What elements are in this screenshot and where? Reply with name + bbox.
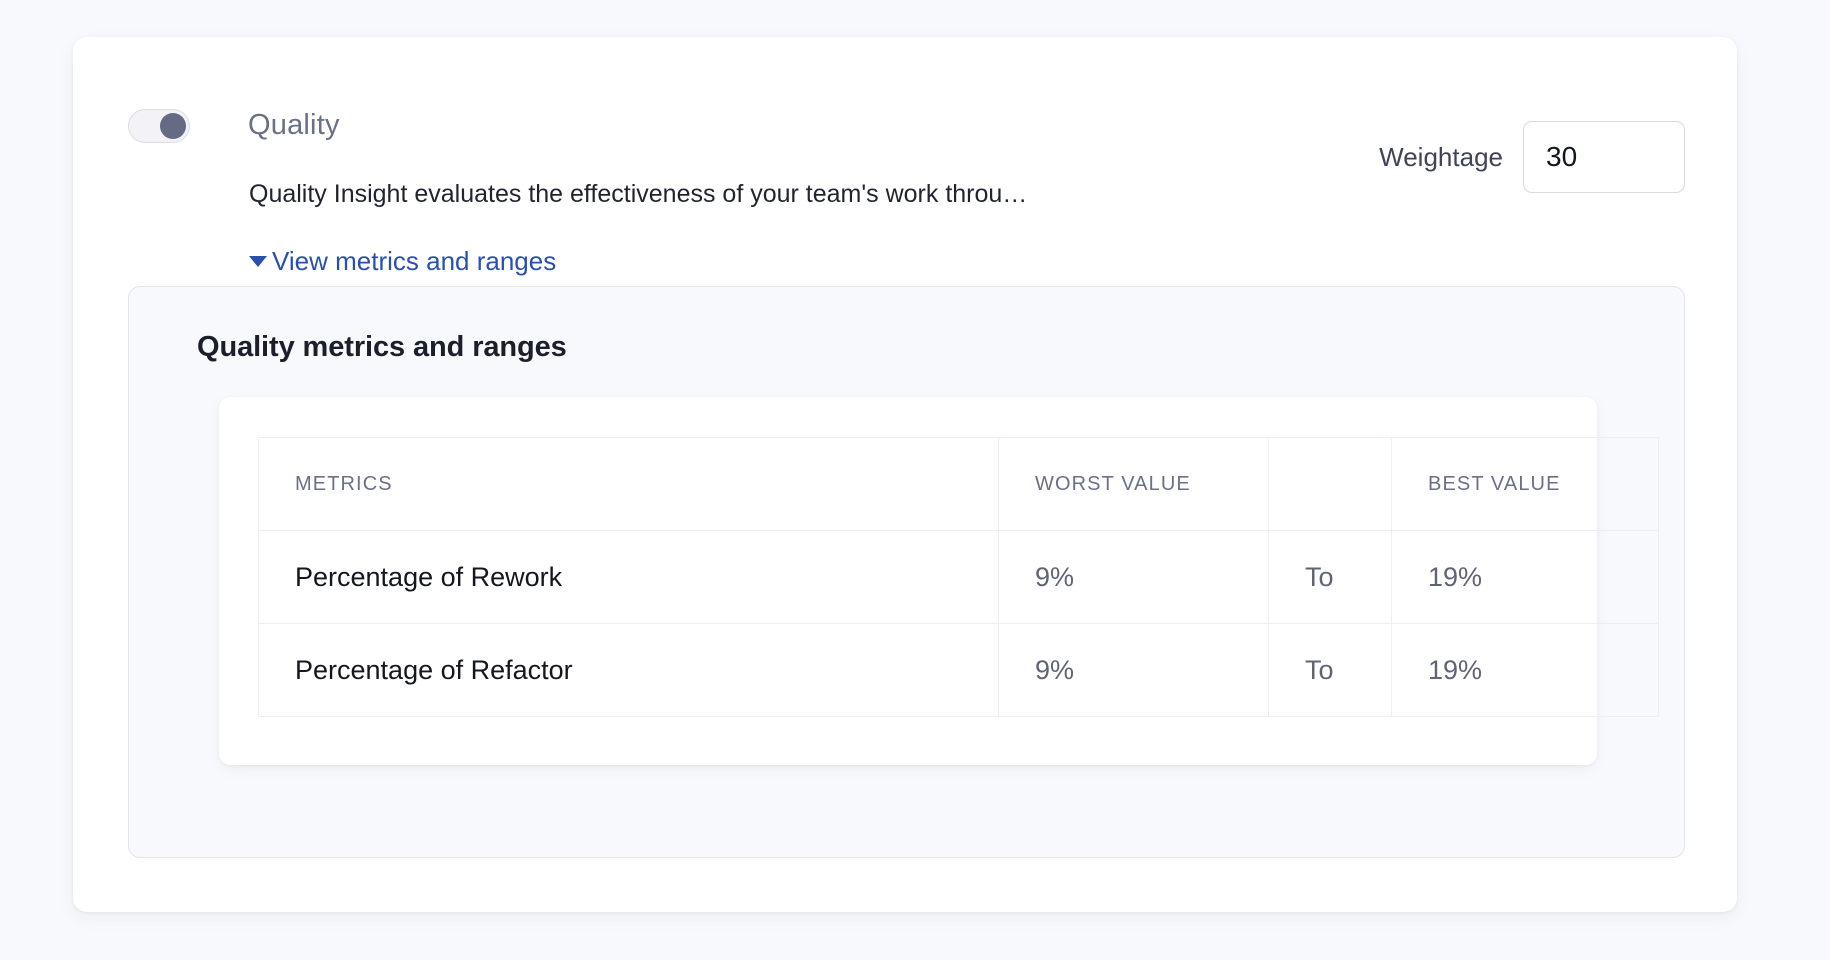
column-header-metrics: METRICS: [259, 438, 999, 531]
insight-header: Quality Quality Insight evaluates the ef…: [73, 37, 1737, 237]
weightage-label: Weightage: [1379, 142, 1503, 173]
cell-worst-value: 9%: [999, 531, 1269, 624]
chevron-down-icon: [249, 256, 267, 267]
insight-title: Quality: [248, 105, 340, 145]
cell-to-separator: To: [1269, 624, 1392, 717]
page-root: Quality Quality Insight evaluates the ef…: [0, 0, 1830, 960]
cell-best-value: 19%: [1392, 624, 1659, 717]
insight-description: Quality Insight evaluates the effectiven…: [249, 175, 1209, 213]
view-metrics-and-ranges-link[interactable]: View metrics and ranges: [249, 244, 556, 278]
panel-heading: Quality metrics and ranges: [197, 331, 567, 364]
weightage-group: Weightage: [1379, 121, 1685, 193]
cell-worst-value: 9%: [999, 624, 1269, 717]
cell-best-value: 19%: [1392, 531, 1659, 624]
column-header-best-value: BEST VALUE: [1392, 438, 1659, 531]
table-row: Percentage of Rework 9% To 19%: [259, 531, 1659, 624]
cell-metric-name: Percentage of Rework: [259, 531, 999, 624]
cell-to-separator: To: [1269, 531, 1392, 624]
column-header-spacer: [1269, 438, 1392, 531]
cell-metric-name: Percentage of Refactor: [259, 624, 999, 717]
quality-insight-card: Quality Quality Insight evaluates the ef…: [73, 37, 1737, 912]
quality-toggle[interactable]: [128, 109, 190, 143]
toggle-knob-icon: [160, 113, 186, 139]
weightage-input[interactable]: [1523, 121, 1685, 193]
view-metrics-link-label: View metrics and ranges: [272, 244, 556, 278]
metrics-table-card: METRICS WORST VALUE BEST VALUE Percentag…: [219, 397, 1597, 765]
quality-metrics-panel: Quality metrics and ranges METRICS WORST…: [128, 286, 1685, 858]
table-row: Percentage of Refactor 9% To 19%: [259, 624, 1659, 717]
column-header-worst-value: WORST VALUE: [999, 438, 1269, 531]
metrics-table: METRICS WORST VALUE BEST VALUE Percentag…: [258, 437, 1659, 717]
table-header-row: METRICS WORST VALUE BEST VALUE: [259, 438, 1659, 531]
